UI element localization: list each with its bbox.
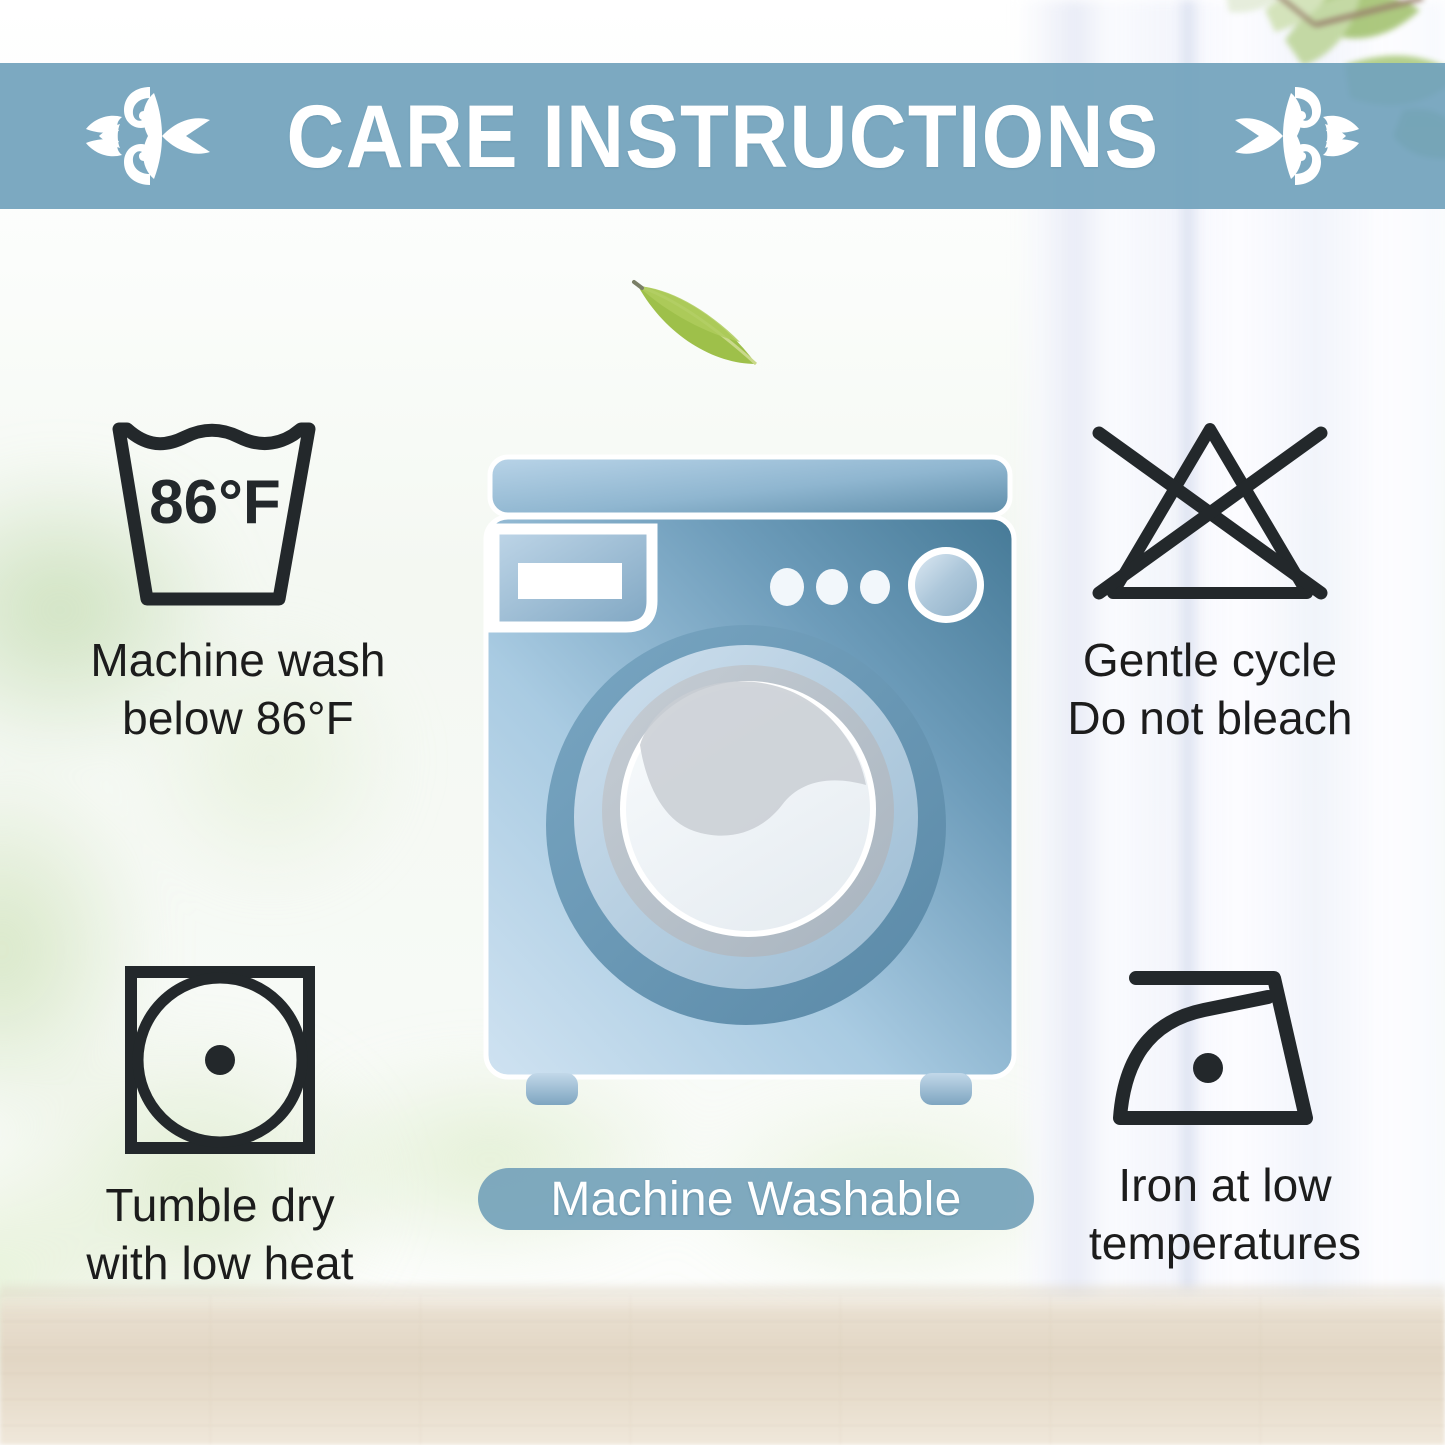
- control-dial-knob[interactable]: [908, 547, 984, 623]
- care-caption-iron: Iron at low temperatures: [1089, 1156, 1361, 1273]
- care-instructions-banner: CARE INSTRUCTIONS: [0, 63, 1445, 209]
- background-wood-grain: [0, 1295, 1445, 1445]
- wash-tub-icon: 86°F: [103, 415, 373, 615]
- fleur-de-lis-ornament-right-icon: [1233, 81, 1369, 191]
- care-caption-tumble-dry: Tumble dry with low heat: [86, 1176, 353, 1293]
- detergent-drawer[interactable]: [494, 529, 652, 627]
- iron-icon: [1100, 960, 1350, 1140]
- page-title: CARE INSTRUCTIONS: [286, 92, 1159, 181]
- care-symbol-iron: Iron at low temperatures: [1025, 960, 1425, 1273]
- care-caption-machine-wash: Machine wash below 86°F: [90, 631, 385, 748]
- indicator-light-3: [860, 570, 890, 604]
- washer-foot-right: [920, 1073, 972, 1105]
- washer-foot-left: [526, 1073, 578, 1105]
- washer-door-porthole[interactable]: [546, 625, 946, 1025]
- washing-machine-illustration: [480, 445, 1020, 1135]
- care-caption-do-not-bleach: Gentle cycle Do not bleach: [1067, 631, 1352, 748]
- indicator-light-1: [770, 568, 804, 606]
- machine-washable-badge-label: Machine Washable: [550, 1172, 961, 1227]
- machine-washable-badge: Machine Washable: [478, 1168, 1034, 1230]
- tumble-dry-square-icon: [115, 960, 325, 1160]
- indicator-lights: [770, 568, 890, 606]
- indicator-light-2: [816, 569, 848, 605]
- washer-top-lid: [490, 457, 1010, 515]
- crossed-triangle-icon: [1075, 415, 1345, 615]
- care-symbol-do-not-bleach: Gentle cycle Do not bleach: [1010, 415, 1410, 748]
- care-symbol-machine-wash: 86°F Machine wash below 86°F: [38, 415, 438, 748]
- care-symbol-tumble-dry: Tumble dry with low heat: [20, 960, 420, 1293]
- floating-green-leaf-icon: [628, 268, 768, 378]
- fleur-de-lis-ornament-left-icon: [76, 81, 212, 191]
- wash-temperature-value: 86°F: [149, 468, 281, 537]
